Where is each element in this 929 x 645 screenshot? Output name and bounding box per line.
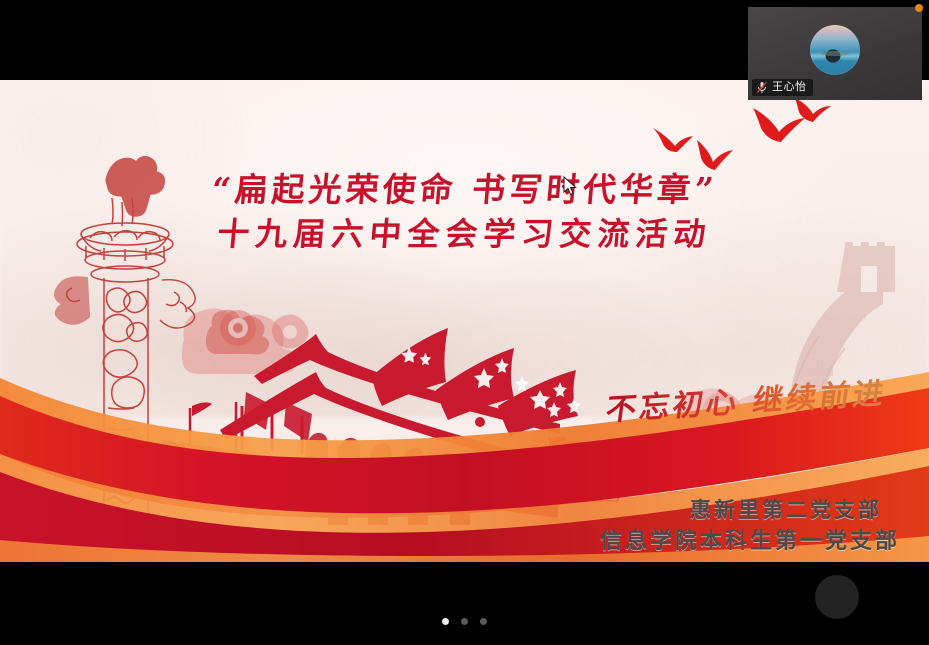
organization-line-2: 信息学院本科生第一党支部 <box>560 525 900 557</box>
meeting-app: 中华人民共和国万岁 世界人民大团结万岁 <box>0 0 929 645</box>
page-dot-3[interactable] <box>480 618 487 625</box>
page-indicator-dots[interactable] <box>0 618 929 625</box>
mouse-cursor <box>563 176 577 196</box>
shared-slide: 中华人民共和国万岁 世界人民大团结万岁 <box>0 80 929 562</box>
organization-block: 惠新里第二党支部 信息学院本科生第一党支部 <box>560 495 900 557</box>
meeting-bottom-bar <box>0 562 929 645</box>
avatar <box>810 25 860 75</box>
page-dot-1[interactable] <box>442 618 449 625</box>
flying-doves-icon <box>645 98 835 178</box>
mute-button[interactable] <box>815 575 859 619</box>
participant-name: 王心怡 <box>772 79 807 96</box>
microphone-muted-icon <box>756 81 768 94</box>
participant-name-chip: 王心怡 <box>752 79 813 96</box>
page-dot-2[interactable] <box>461 618 468 625</box>
participant-video-tile[interactable]: 王心怡 <box>748 7 922 100</box>
organization-line-1: 惠新里第二党支部 <box>560 495 900 525</box>
recording-indicator <box>915 4 923 12</box>
